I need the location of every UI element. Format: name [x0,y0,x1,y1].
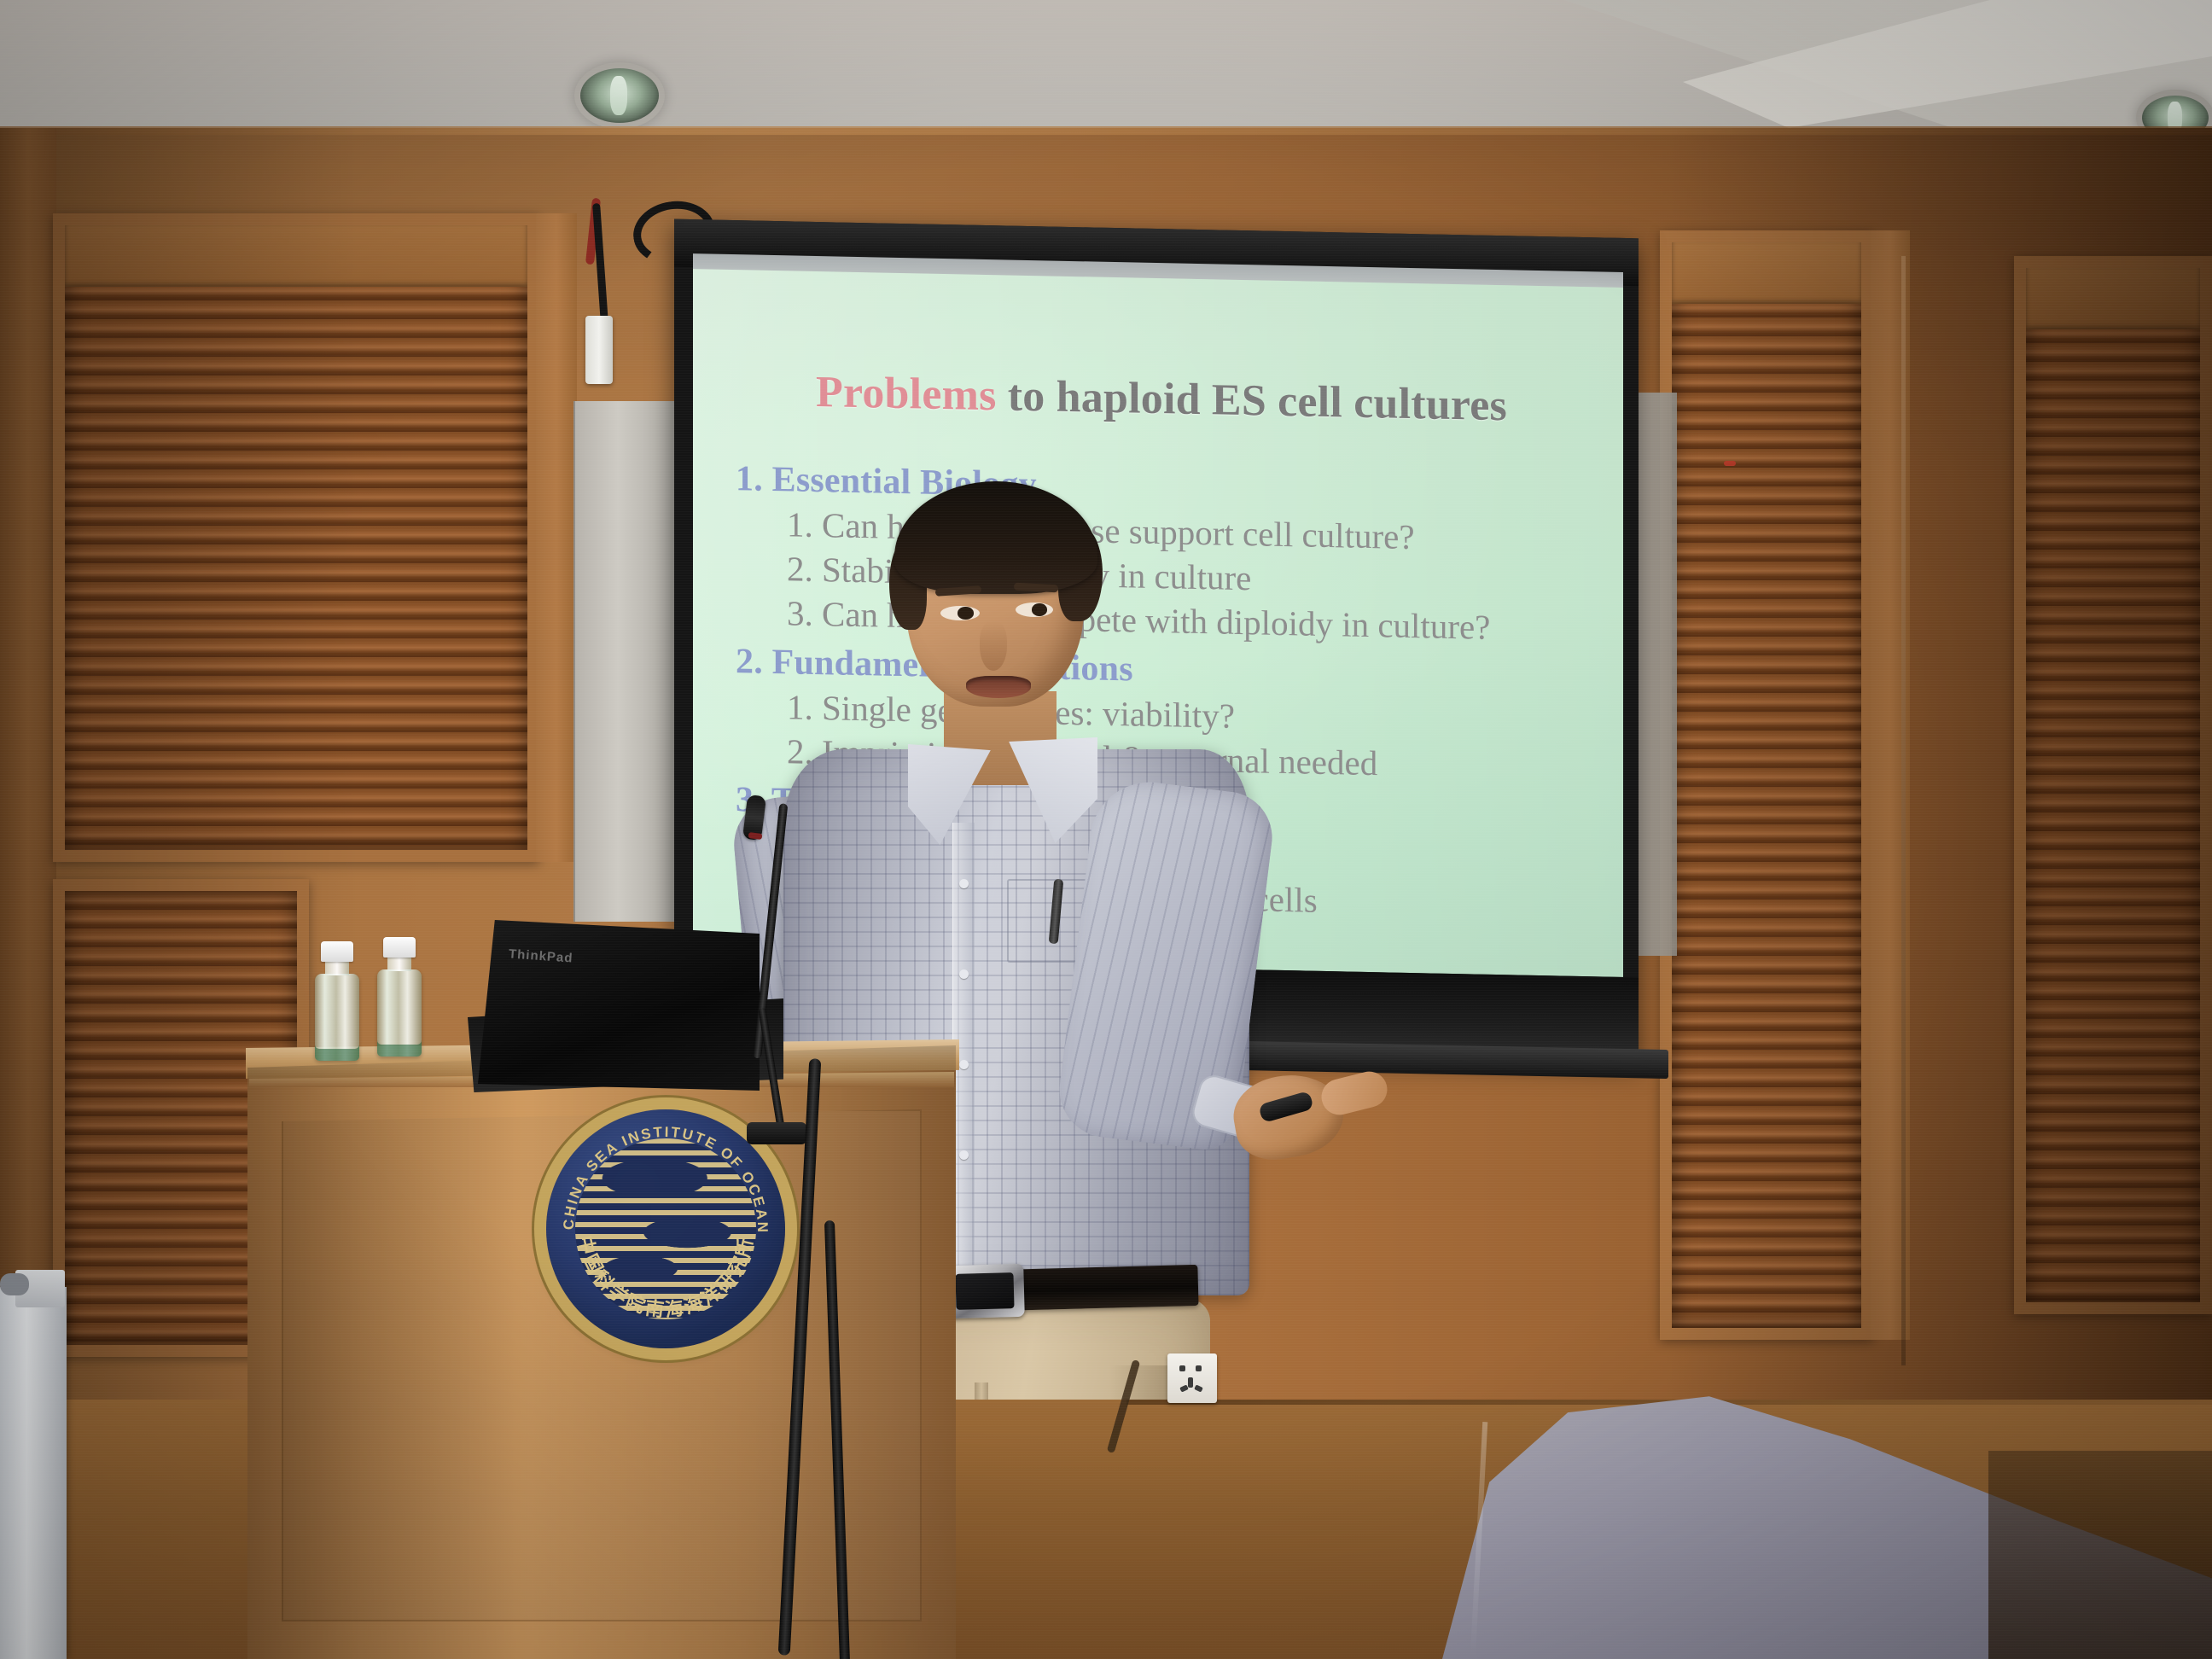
emblem-chinese-text: 中国科学院南海海洋研究所 [573,1234,758,1322]
slide-title-highlight: Problems [816,368,997,420]
water-bottle[interactable] [374,937,425,1057]
sofa-shadow [1988,1451,2212,1659]
cable-connector [585,316,613,384]
wall-wood-column [536,213,577,862]
wall-white-column [573,401,684,922]
wall-power-socket[interactable] [1167,1353,1217,1403]
presenter-mouth [966,676,1031,698]
slide-title-rest: to haploid ES cell cultures [997,371,1507,430]
presenter-hair [894,481,1097,594]
emblem-english-text: SOUTH CHINA SEA INSTITUTE OF OCEANOLOGY [546,1109,771,1235]
emblem-ring-text: SOUTH CHINA SEA INSTITUTE OF OCEANOLOGY … [546,1109,785,1348]
presenter-eye [940,606,980,620]
water-bottle[interactable] [311,941,363,1061]
flipchart-board [0,1287,67,1659]
presenter-nose [980,621,1007,671]
svg-text:中国科学院南海海洋研究所: 中国科学院南海海洋研究所 [573,1234,758,1322]
presentation-photo-scene: Problems to haploid ES cell cultures 1. … [0,0,2212,1659]
institute-emblem: SOUTH CHINA SEA INSTITUTE OF OCEANOLOGY … [546,1109,785,1348]
belt-buckle [945,1264,1025,1318]
laptop[interactable]: ThinkPad [478,920,760,1091]
microphone-base [747,1122,806,1144]
ceiling-downlight-icon [580,68,659,123]
slide-title: Problems to haploid ES cell cultures [734,365,1589,433]
presenter-eye [1016,602,1053,617]
svg-text:SOUTH CHINA SEA INSTITUTE OF O: SOUTH CHINA SEA INSTITUTE OF OCEANOLOGY [546,1109,771,1235]
laptop-brand-label: ThinkPad [508,946,573,965]
flipchart-grip [0,1273,29,1295]
